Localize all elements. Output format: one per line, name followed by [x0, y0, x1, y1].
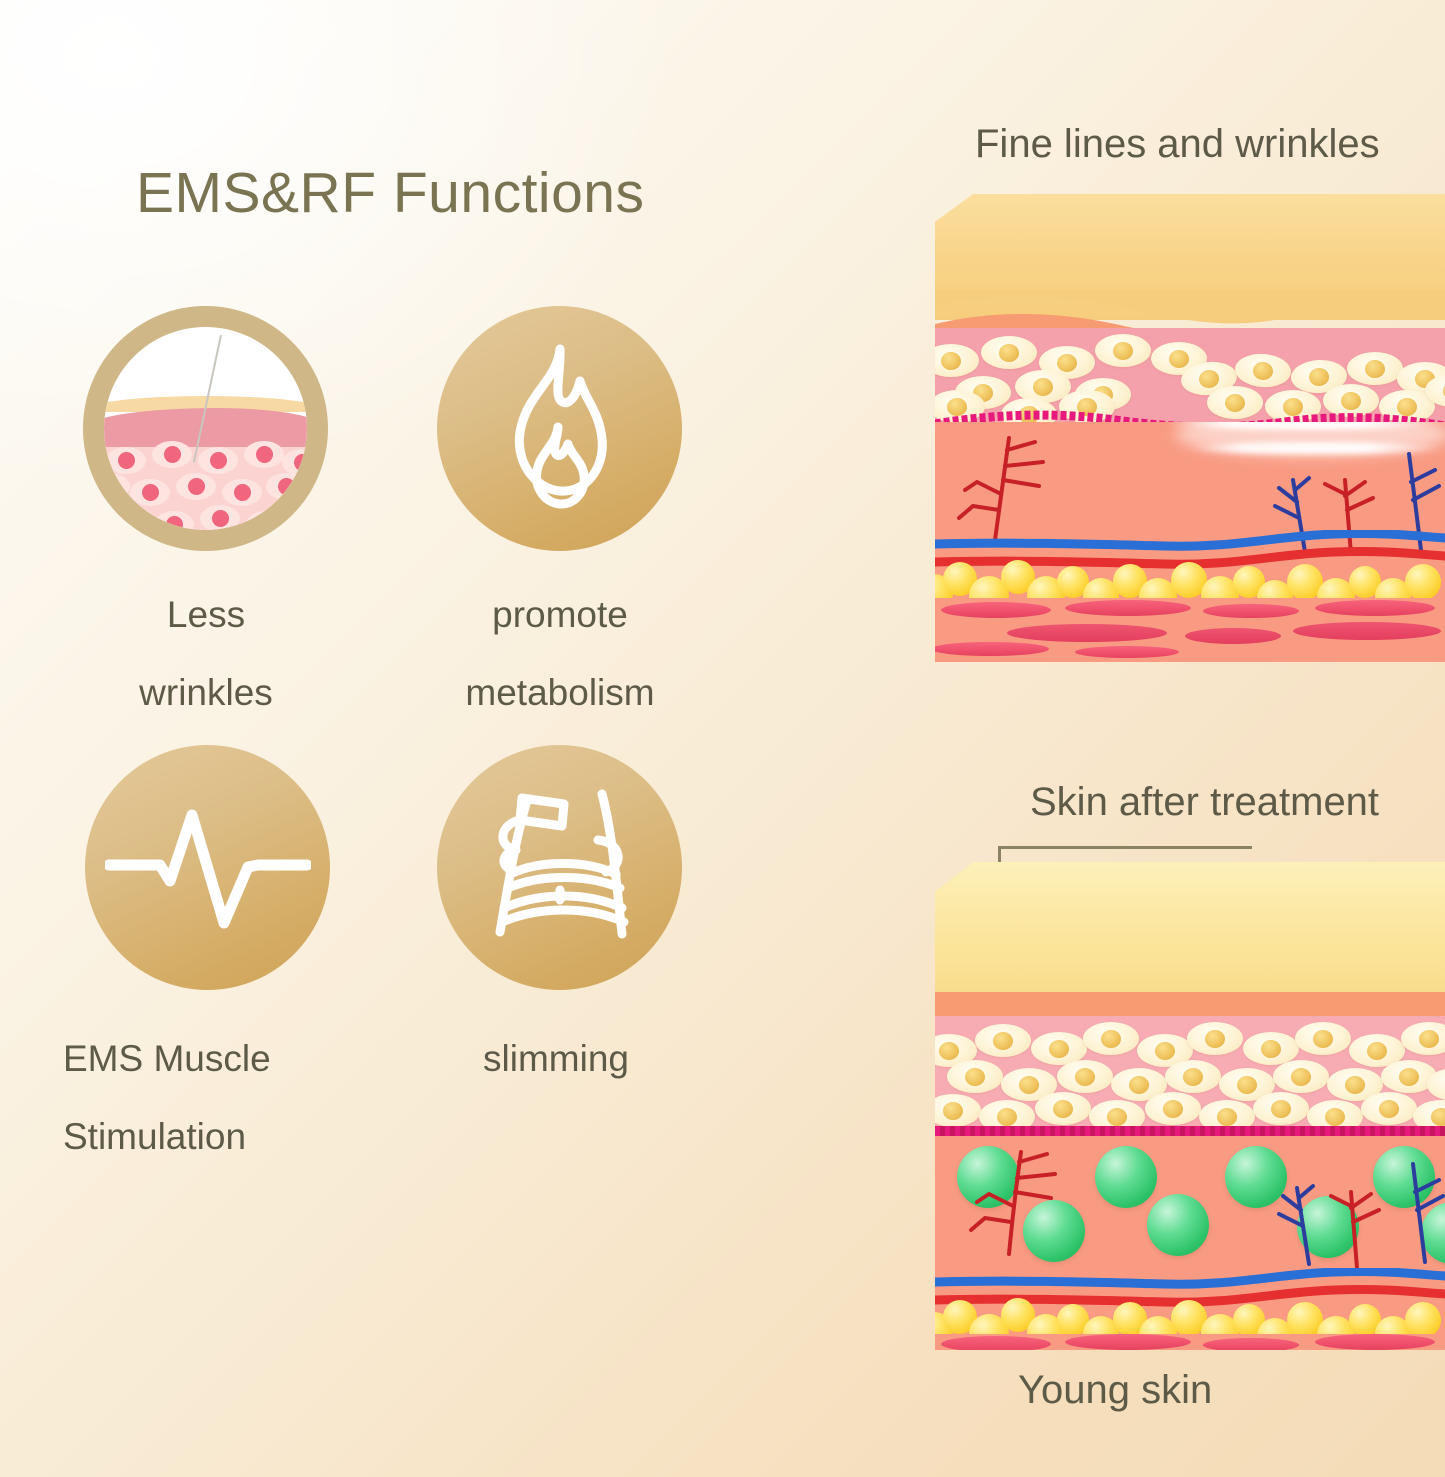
feature-label-line1: promote: [410, 576, 710, 654]
waist-measuring-tape-icon: [437, 745, 682, 990]
epidermis-surface-slab: [935, 862, 1445, 996]
feature-slimming: [437, 745, 682, 990]
feature-label-slimming: slimming: [406, 1020, 706, 1098]
feature-promote-metabolism: [437, 306, 682, 551]
skin-diagram-after: [935, 862, 1445, 1350]
muscle-layer-after: [935, 1334, 1445, 1350]
flame-icon: [437, 306, 682, 551]
feature-less-wrinkles: [83, 306, 328, 551]
page-title: EMS&RF Functions: [136, 160, 644, 226]
feature-label-promote-metabolism: promote metabolism: [410, 576, 710, 732]
feature-label-line1: Less: [56, 576, 356, 654]
feature-label-line2: metabolism: [410, 654, 710, 732]
infographic-root: EMS&RF Functions: [0, 0, 1445, 1477]
panel-caption-young-skin: Young skin: [1018, 1368, 1212, 1413]
epidermis-layer-after: [935, 1016, 1445, 1132]
pulse-waveform-icon: [85, 745, 330, 990]
panel-heading-fine-lines: Fine lines and wrinkles: [975, 122, 1380, 167]
collagen-sphere: [1147, 1194, 1209, 1256]
stratum-corneum-after: [935, 992, 1445, 1018]
panel-heading-skin-after-treatment: Skin after treatment: [1030, 780, 1379, 825]
feature-label-line2: wrinkles: [56, 654, 356, 732]
feature-label-line1: slimming: [406, 1020, 706, 1098]
feature-label-line1: EMS Muscle: [63, 1020, 363, 1098]
collagen-sphere: [1095, 1146, 1157, 1208]
skin-diagram-before: [935, 194, 1445, 662]
feature-ems-muscle-stimulation: [85, 745, 330, 990]
skin-cross-section-icon: [83, 306, 328, 551]
artery-branch-icon: [959, 1150, 1079, 1268]
feature-label-less-wrinkles: Less wrinkles: [56, 576, 356, 732]
feature-label-line2: Stimulation: [63, 1098, 363, 1176]
muscle-layer-before: [935, 598, 1445, 662]
vein-branch-icon: [1391, 1162, 1445, 1264]
feature-label-ems-muscle-stimulation: EMS Muscle Stimulation: [63, 1020, 363, 1176]
